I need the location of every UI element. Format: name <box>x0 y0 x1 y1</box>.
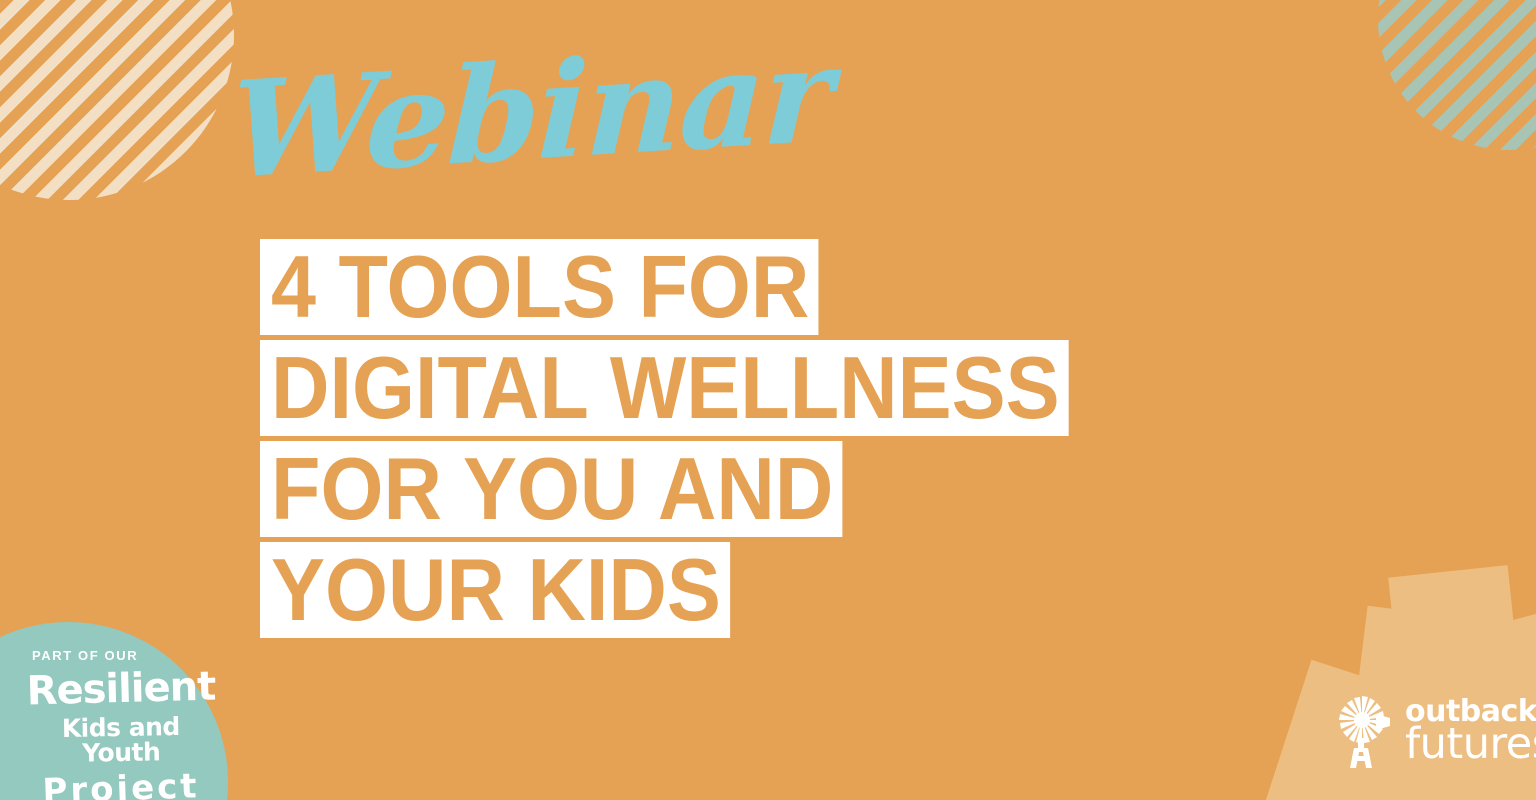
badge-kicker: PART OF OUR <box>26 648 216 663</box>
headline-stack: 4 TOOLS FOR DIGITAL WELLNESS FOR YOU AND… <box>260 239 1139 638</box>
striped-circle-cream-icon <box>0 0 234 200</box>
windmill-icon <box>1332 692 1396 770</box>
badge-line-project: Project <box>25 769 216 800</box>
resilient-kids-youth-project-badge: PART OF OUR Resilient Kids and Youth Pro… <box>26 648 216 800</box>
logo-wordmark: outback futures <box>1405 697 1536 766</box>
headline-line-4: YOUR KIDS <box>260 542 730 638</box>
headline-line-2: DIGITAL WELLNESS <box>260 340 1069 436</box>
striped-circle-sage-icon <box>1378 0 1536 150</box>
headline-line-3: FOR YOU AND <box>260 441 843 537</box>
script-eyebrow-webinar: Webinar <box>228 29 834 198</box>
headline-line-1: 4 TOOLS FOR <box>260 239 819 335</box>
logo-word-futures: futures <box>1405 723 1536 766</box>
badge-line-kids-and-youth: Kids and Youth <box>26 713 217 766</box>
badge-line-resilient: Resilient <box>26 667 217 712</box>
webinar-promo-poster: Webinar 4 TOOLS FOR DIGITAL WELLNESS FOR… <box>0 0 1536 800</box>
outback-futures-logo: outback futures <box>1332 692 1536 770</box>
